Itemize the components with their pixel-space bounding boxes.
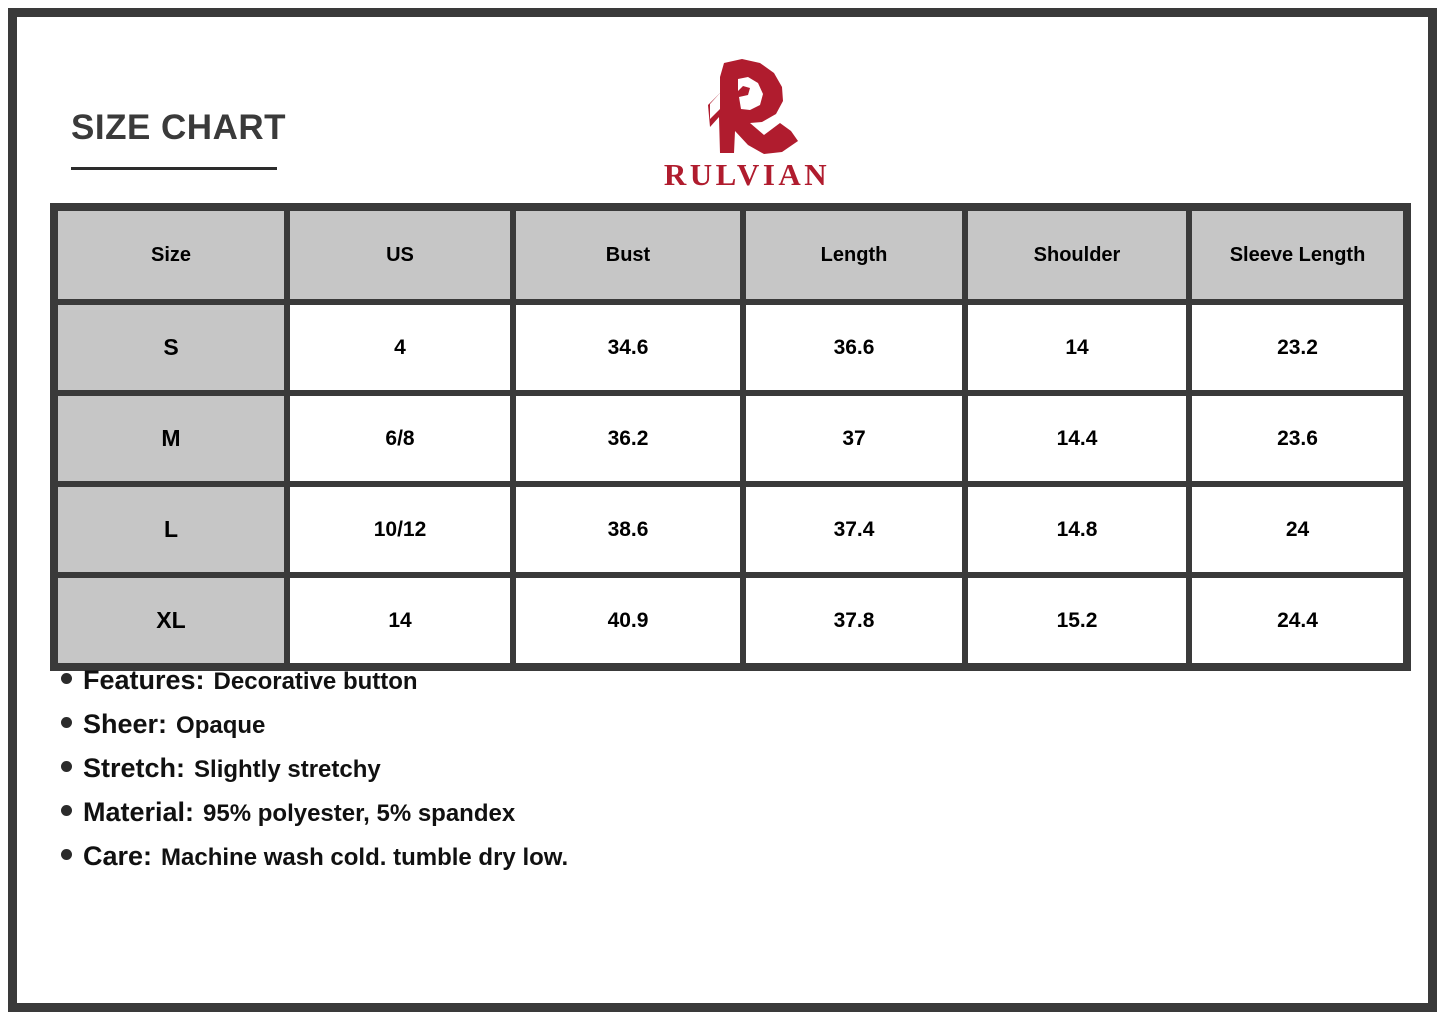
title-block: SIZE CHART bbox=[71, 110, 286, 170]
cell-bust: 38.6 bbox=[513, 484, 743, 575]
column-header-sleeve: Sleeve Length bbox=[1189, 208, 1406, 302]
cell-shoulder: 14.4 bbox=[965, 393, 1189, 484]
page-frame: SIZE CHART RULVIAN Size US bbox=[8, 8, 1437, 1012]
column-header-us: US bbox=[287, 208, 513, 302]
bullet-icon bbox=[61, 849, 72, 860]
cell-length: 37 bbox=[743, 393, 965, 484]
title-underline-rule bbox=[71, 167, 277, 170]
cell-length: 37.4 bbox=[743, 484, 965, 575]
spec-label: Material: bbox=[83, 797, 194, 828]
spec-label: Features: bbox=[83, 665, 205, 696]
cell-us: 14 bbox=[287, 575, 513, 666]
cell-bust: 34.6 bbox=[513, 302, 743, 393]
cell-length: 37.8 bbox=[743, 575, 965, 666]
cell-shoulder: 15.2 bbox=[965, 575, 1189, 666]
spec-value: Slightly stretchy bbox=[194, 756, 381, 784]
cell-us: 6/8 bbox=[287, 393, 513, 484]
header: SIZE CHART RULVIAN bbox=[17, 17, 1445, 197]
page-inner: SIZE CHART RULVIAN Size US bbox=[17, 17, 1445, 1021]
table-row: L 10/12 38.6 37.4 14.8 24 bbox=[55, 484, 1406, 575]
spec-label: Sheer: bbox=[83, 709, 167, 740]
table-header-row: Size US Bust Length Shoulder Sleeve Leng… bbox=[55, 208, 1406, 302]
bullet-icon bbox=[61, 717, 72, 728]
cell-size: S bbox=[55, 302, 287, 393]
spec-label: Stretch: bbox=[83, 753, 185, 784]
list-item: Material: 95% polyester, 5% spandex bbox=[61, 797, 568, 828]
cell-size: XL bbox=[55, 575, 287, 666]
rulvian-r-monogram-icon bbox=[686, 57, 808, 155]
cell-bust: 40.9 bbox=[513, 575, 743, 666]
cell-sleeve: 23.6 bbox=[1189, 393, 1406, 484]
cell-us: 4 bbox=[287, 302, 513, 393]
table-row: M 6/8 36.2 37 14.4 23.6 bbox=[55, 393, 1406, 484]
list-item: Sheer: Opaque bbox=[61, 709, 568, 740]
column-header-bust: Bust bbox=[513, 208, 743, 302]
product-spec-list: Features: Decorative button Sheer: Opaqu… bbox=[61, 665, 568, 885]
cell-length: 36.6 bbox=[743, 302, 965, 393]
table-row: XL 14 40.9 37.8 15.2 24.4 bbox=[55, 575, 1406, 666]
cell-size: L bbox=[55, 484, 287, 575]
bullet-icon bbox=[61, 761, 72, 772]
cell-us: 10/12 bbox=[287, 484, 513, 575]
list-item: Stretch: Slightly stretchy bbox=[61, 753, 568, 784]
spec-value: Machine wash cold. tumble dry low. bbox=[161, 844, 568, 872]
bullet-icon bbox=[61, 673, 72, 684]
column-header-size: Size bbox=[55, 208, 287, 302]
bullet-icon bbox=[61, 805, 72, 816]
table-row: S 4 34.6 36.6 14 23.2 bbox=[55, 302, 1406, 393]
list-item: Care: Machine wash cold. tumble dry low. bbox=[61, 841, 568, 872]
cell-shoulder: 14 bbox=[965, 302, 1189, 393]
brand-logo: RULVIAN bbox=[632, 57, 862, 190]
spec-value: 95% polyester, 5% spandex bbox=[203, 800, 515, 828]
spec-value: Decorative button bbox=[214, 668, 418, 696]
cell-shoulder: 14.8 bbox=[965, 484, 1189, 575]
spec-value: Opaque bbox=[176, 712, 265, 740]
spec-label: Care: bbox=[83, 841, 152, 872]
brand-name: RULVIAN bbox=[632, 159, 862, 190]
size-chart-table: Size US Bust Length Shoulder Sleeve Leng… bbox=[50, 203, 1411, 671]
cell-sleeve: 24 bbox=[1189, 484, 1406, 575]
cell-size: M bbox=[55, 393, 287, 484]
column-header-shoulder: Shoulder bbox=[965, 208, 1189, 302]
cell-bust: 36.2 bbox=[513, 393, 743, 484]
list-item: Features: Decorative button bbox=[61, 665, 568, 696]
cell-sleeve: 24.4 bbox=[1189, 575, 1406, 666]
column-header-length: Length bbox=[743, 208, 965, 302]
cell-sleeve: 23.2 bbox=[1189, 302, 1406, 393]
page-title: SIZE CHART bbox=[71, 110, 286, 145]
